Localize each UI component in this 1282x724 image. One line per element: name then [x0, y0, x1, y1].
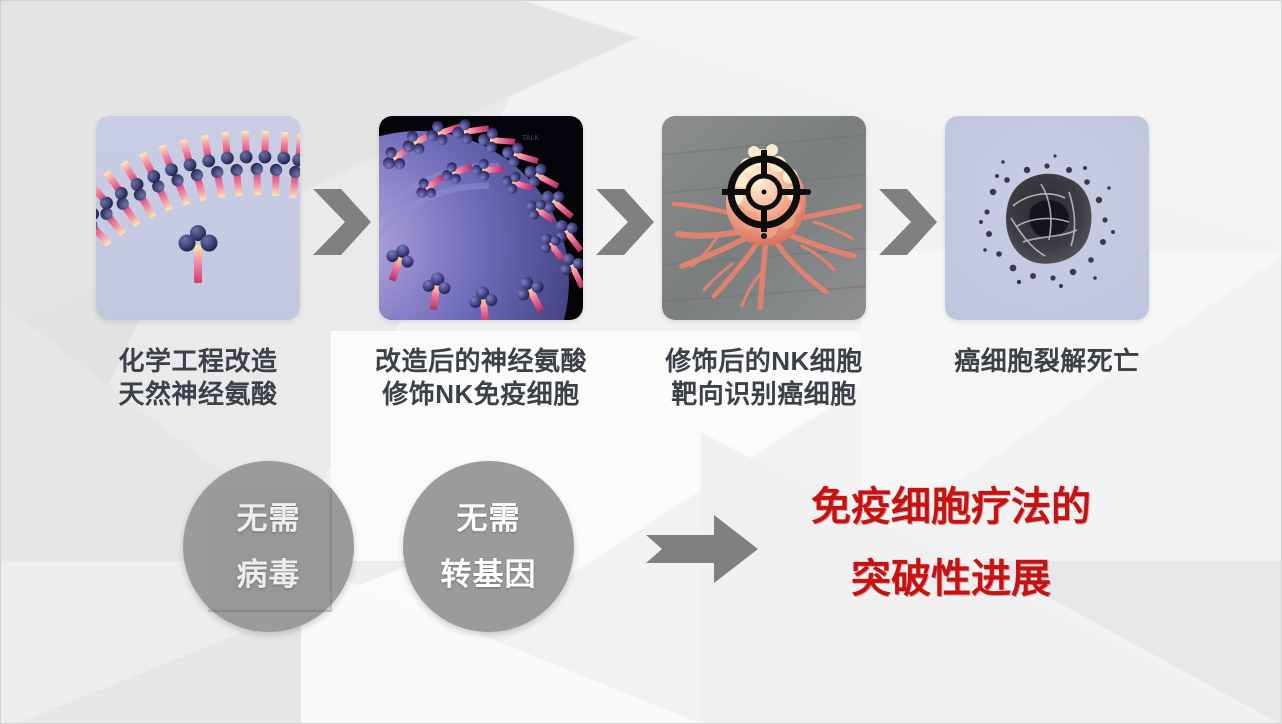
- conclusion-text: 免疫细胞疗法的 突破性进展: [781, 471, 1121, 615]
- process-image-lipid-bilayer: [96, 116, 300, 320]
- process-caption-1: 化学工程改造 天然神经氨酸: [96, 345, 300, 411]
- process-caption-2: 改造后的神经氨酸 修饰NK免疫细胞: [357, 345, 605, 411]
- process-arrow-3: [877, 185, 939, 259]
- process-arrow-1: [311, 185, 373, 259]
- image-watermark: TALK: [522, 135, 539, 142]
- caption-line: 化学工程改造: [96, 345, 300, 378]
- process-image-lysed-dead-cell: [945, 116, 1149, 320]
- caption-line: 癌细胞裂解死亡: [923, 345, 1171, 378]
- caption-line: 修饰后的NK细胞: [640, 345, 888, 378]
- process-caption-3: 修饰后的NK细胞 靶向识别癌细胞: [640, 345, 888, 411]
- caption-line: 靶向识别癌细胞: [640, 378, 888, 411]
- feature-circle-no-gene-editing: 无需 转基因: [403, 461, 574, 632]
- presentation-slide: TALK: [0, 0, 1282, 724]
- process-image-modified-sialic-acid: TALK: [379, 116, 583, 320]
- feature-line: 无需: [237, 491, 301, 547]
- caption-line: 天然神经氨酸: [96, 378, 300, 411]
- feature-circle-no-virus: 无需 病毒: [183, 461, 354, 632]
- feature-line: 转基因: [441, 547, 537, 603]
- conclusion-line: 突破性进展: [781, 543, 1121, 615]
- feature-line: 无需: [457, 491, 521, 547]
- caption-line: 修饰NK免疫细胞: [357, 378, 605, 411]
- result-arrow-icon: [646, 513, 760, 585]
- caption-line: 改造后的神经氨酸: [357, 345, 605, 378]
- conclusion-line: 免疫细胞疗法的: [781, 471, 1121, 543]
- process-arrow-2: [594, 185, 656, 259]
- process-image-nk-targeting-cancer-cell: [662, 116, 866, 320]
- feature-line: 病毒: [237, 547, 301, 603]
- process-caption-4: 癌细胞裂解死亡: [923, 345, 1171, 378]
